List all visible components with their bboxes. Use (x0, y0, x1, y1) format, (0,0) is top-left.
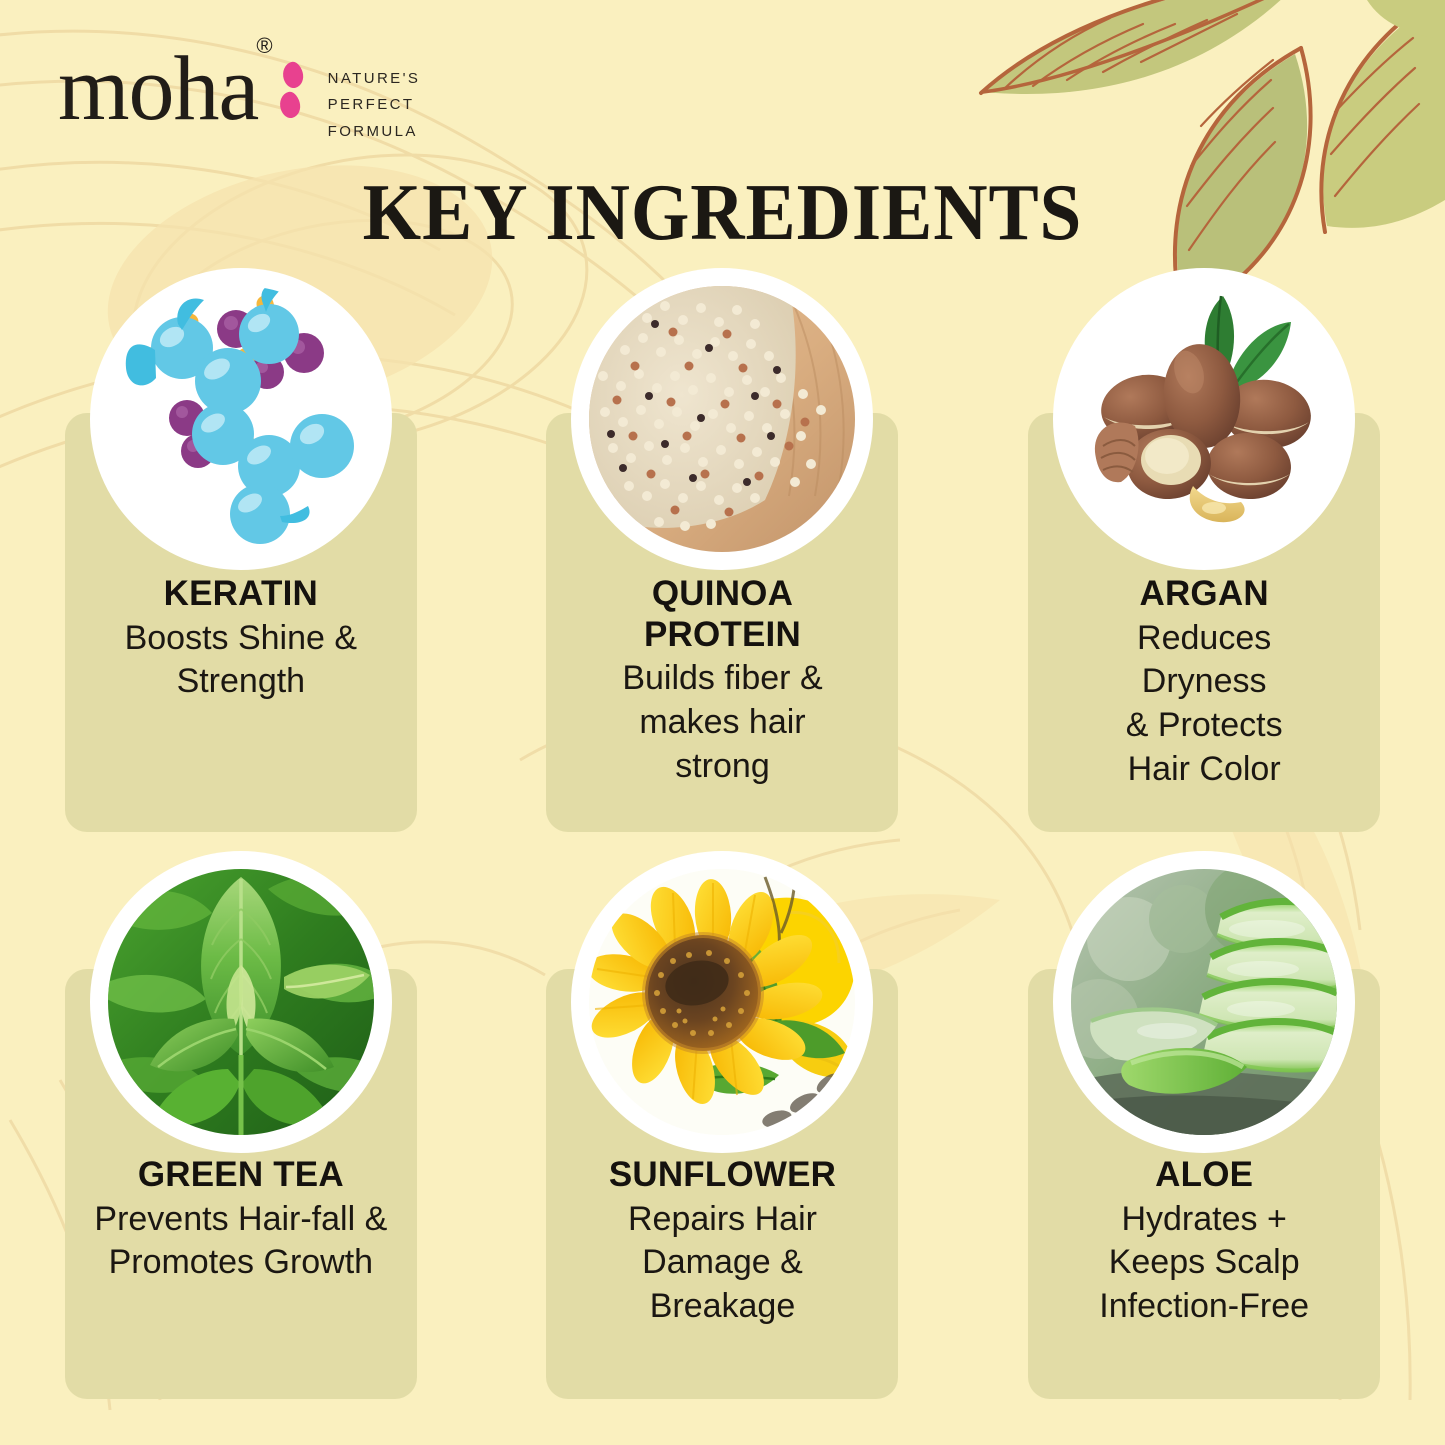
ingredient-name: GREEN TEA (76, 1155, 406, 1196)
registered-trademark-icon: ® (256, 33, 271, 58)
ingredient-text-argan: ARGAN ReducesDryness& ProtectsHair Color (1039, 574, 1369, 792)
argan-nuts-photo (1071, 286, 1337, 552)
keratin-molecule-illustration (108, 286, 374, 552)
ingredient-text-quinoa: QUINOAPROTEIN Builds fiber &makes hairst… (557, 574, 887, 789)
ingredient-name: KERATIN (76, 574, 406, 615)
ingredient-card-keratin: KERATIN Boosts Shine &Strength (0, 276, 482, 859)
ingredient-description: Builds fiber &makes hairstrong (557, 657, 887, 789)
ingredient-description: Boosts Shine &Strength (76, 617, 406, 705)
ingredient-image-green-tea (100, 861, 382, 1143)
ingredient-text-aloe: ALOE Hydrates +Keeps ScalpInfection-Free (1039, 1155, 1369, 1329)
page-title: KEY INGREDIENTS (43, 168, 1401, 259)
ingredient-card-argan: ARGAN ReducesDryness& ProtectsHair Color (963, 276, 1445, 859)
ingredient-card-aloe: ALOE Hydrates +Keeps ScalpInfection-Free (963, 859, 1445, 1442)
ingredient-name: ARGAN (1039, 574, 1369, 615)
ingredient-description: ReducesDryness& ProtectsHair Color (1039, 617, 1369, 792)
ingredient-image-quinoa (581, 278, 863, 560)
ingredient-text-green-tea: GREEN TEA Prevents Hair-fall &Promotes G… (76, 1155, 406, 1285)
tagline-line-2: PERFECT (328, 92, 421, 118)
ingredient-description: Prevents Hair-fall &Promotes Growth (76, 1198, 406, 1286)
ingredient-card-green-tea: GREEN TEA Prevents Hair-fall &Promotes G… (0, 859, 482, 1442)
ingredient-image-argan (1063, 278, 1345, 560)
infographic-page: moha® NATURE'S PERFECT FORMULA KEY INGRE… (0, 0, 1445, 1445)
brand-tagline: NATURE'S PERFECT FORMULA (328, 66, 421, 145)
brand-petal-icon (280, 62, 306, 132)
ingredient-name: ALOE (1039, 1155, 1369, 1196)
brand-logo: moha® NATURE'S PERFECT FORMULA (58, 46, 420, 145)
ingredient-card-quinoa: QUINOAPROTEIN Builds fiber &makes hairst… (482, 276, 964, 859)
ingredient-image-keratin (100, 278, 382, 560)
tagline-line-3: FORMULA (328, 119, 421, 145)
ingredient-name: QUINOAPROTEIN (557, 574, 887, 655)
ingredient-description: Repairs HairDamage &Breakage (557, 1198, 887, 1330)
ingredient-description: Hydrates +Keeps ScalpInfection-Free (1039, 1198, 1369, 1330)
ingredient-image-aloe (1063, 861, 1345, 1143)
ingredients-grid: KERATIN Boosts Shine &Strength (0, 276, 1445, 1442)
brand-wordmark: moha® (58, 46, 278, 131)
ingredient-image-sunflower (581, 861, 863, 1143)
ingredient-card-sunflower: SUNFLOWER Repairs HairDamage &Breakage (482, 859, 964, 1442)
ingredient-text-sunflower: SUNFLOWER Repairs HairDamage &Breakage (557, 1155, 887, 1329)
sunflower-photo (589, 869, 855, 1135)
tagline-line-1: NATURE'S (328, 66, 421, 92)
quinoa-grains-photo (589, 286, 855, 552)
aloe-vera-slices-photo (1071, 869, 1337, 1135)
brand-name-text: moha (58, 37, 258, 139)
green-tea-leaves-photo (108, 869, 374, 1135)
ingredient-text-keratin: KERATIN Boosts Shine &Strength (76, 574, 406, 704)
ingredient-name: SUNFLOWER (557, 1155, 887, 1196)
